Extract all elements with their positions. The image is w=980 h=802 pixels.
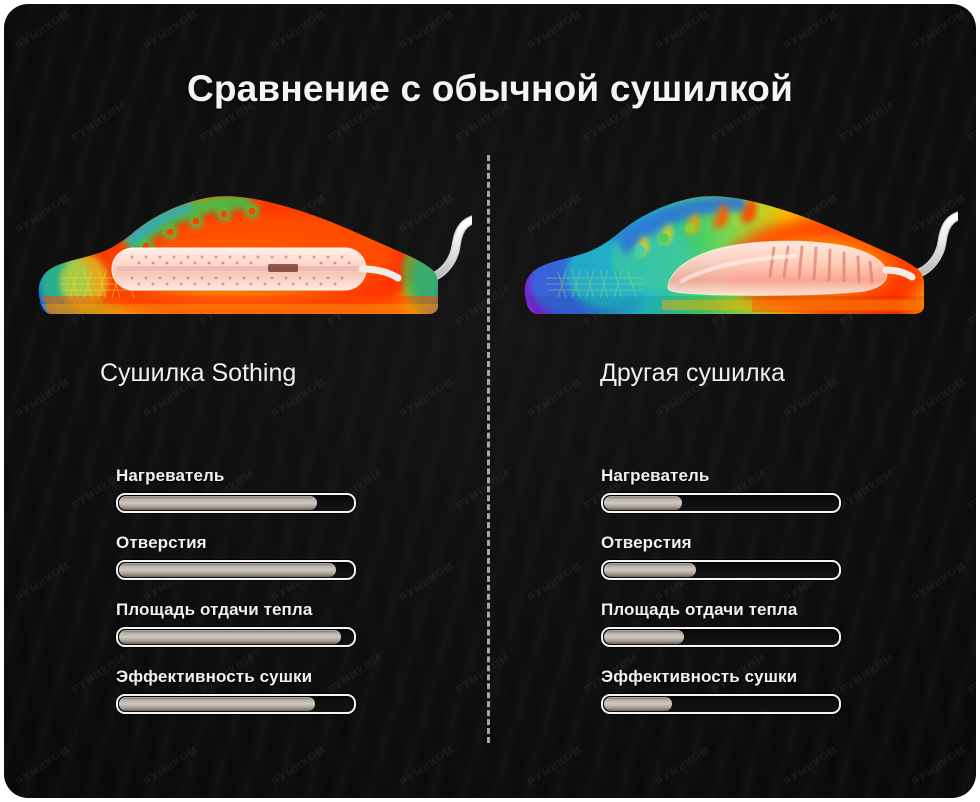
metric-holes: Отверстия <box>116 533 456 580</box>
metric-label: Площадь отдачи тепла <box>601 600 941 620</box>
metric-holes: Отверстия <box>601 533 941 580</box>
metrics-other: Нагреватель Отверстия Площадь отдачи теп… <box>601 466 941 734</box>
metric-bar <box>116 560 356 580</box>
page-title: Сравнение с обычной сушилкой <box>4 68 976 110</box>
metric-bar <box>116 694 356 714</box>
metric-bar-fill <box>604 630 684 644</box>
metric-bar-fill <box>119 697 315 711</box>
watermark: РУМИКОМ <box>142 8 201 53</box>
metrics-sothing: Нагреватель Отверстия Площадь отдачи теп… <box>116 466 456 734</box>
metric-bar <box>116 493 356 513</box>
metric-label: Площадь отдачи тепла <box>116 600 456 620</box>
metric-drying-efficiency: Эффективность сушки <box>601 667 941 714</box>
metric-label: Эффективность сушки <box>116 667 456 687</box>
column-sothing: Сушилка Sothing Нагреватель Отверстия Пл… <box>4 174 490 774</box>
metric-bar-fill <box>604 496 682 510</box>
comparison-card: РУМИКОМРУМИКОМРУМИКОМРУМИКОМРУМИКОМРУМИК… <box>4 4 976 798</box>
metric-label: Нагреватель <box>601 466 941 486</box>
watermark: РУМИКОМ <box>270 8 329 53</box>
metric-heater: Нагреватель <box>601 466 941 513</box>
metric-bar <box>601 627 841 647</box>
metric-label: Отверстия <box>116 533 456 553</box>
metric-label: Нагреватель <box>116 466 456 486</box>
metric-bar <box>601 560 841 580</box>
watermark: РУМИКОМ <box>910 8 969 53</box>
metric-heater: Нагреватель <box>116 466 456 513</box>
metric-bar-fill <box>604 563 696 577</box>
metric-bar-fill <box>604 697 672 711</box>
metric-bar-fill <box>119 496 317 510</box>
metric-bar-fill <box>119 563 336 577</box>
metric-heat-area: Площадь отдачи тепла <box>116 600 456 647</box>
metric-bar <box>116 627 356 647</box>
metric-heat-area: Площадь отдачи тепла <box>601 600 941 647</box>
caption-other: Другая сушилка <box>600 359 976 388</box>
watermark: РУМИКОМ <box>398 8 457 53</box>
metric-bar <box>601 694 841 714</box>
caption-sothing: Сушилка Sothing <box>100 359 546 388</box>
thermal-image-other <box>512 174 958 334</box>
metric-label: Отверстия <box>601 533 941 553</box>
metric-label: Эффективность сушки <box>601 667 941 687</box>
watermark: РУМИКОМ <box>14 8 73 53</box>
thermal-image-sothing <box>26 174 472 334</box>
column-other: Другая сушилка Нагреватель Отверстия Пло… <box>490 174 976 774</box>
metric-drying-efficiency: Эффективность сушки <box>116 667 456 714</box>
metric-bar <box>601 493 841 513</box>
image-frame: РУМИКОМРУМИКОМРУМИКОМРУМИКОМРУМИКОМРУМИК… <box>0 0 980 802</box>
watermark: РУМИКОМ <box>654 8 713 53</box>
watermark: РУМИКОМ <box>782 8 841 53</box>
watermark: РУМИКОМ <box>526 8 585 53</box>
metric-bar-fill <box>119 630 341 644</box>
